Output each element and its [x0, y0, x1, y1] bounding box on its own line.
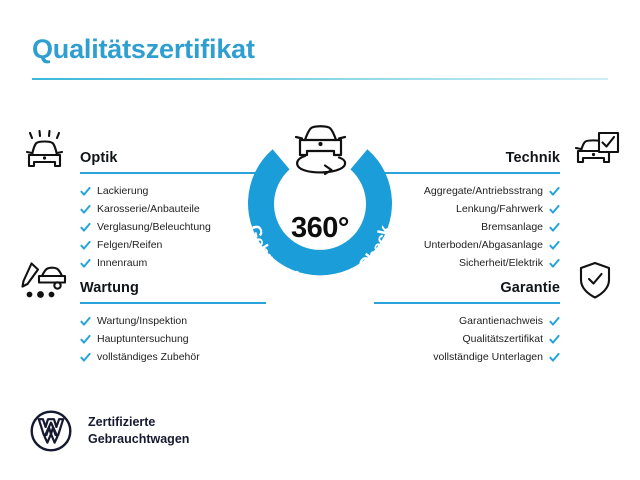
car-checkbox-icon — [568, 130, 622, 172]
check-icon — [80, 352, 91, 363]
check-icon — [549, 204, 560, 215]
list-item-label: vollständiges Zubehör — [97, 348, 200, 366]
header: Qualitätszertifikat — [32, 32, 608, 80]
block-title-technik: Technik — [506, 150, 560, 166]
badge-degrees-label: 360° — [226, 212, 414, 245]
check-icon — [80, 240, 91, 251]
block-title-optik: Optik — [80, 150, 118, 166]
volkswagen-logo — [30, 410, 72, 452]
sparkling-car-icon — [18, 130, 72, 172]
footer-line-1: Zertifizierte — [88, 414, 189, 431]
footer-brand-text: Zertifizierte Gebrauchtwagen — [88, 414, 189, 448]
list-item: Hauptuntersuchung — [18, 330, 266, 348]
list-item-label: Wartung/Inspektion — [97, 312, 187, 330]
list-item-label: Garantienachweis — [459, 312, 543, 330]
quality-certificate-page: Qualitätszertifikat — [0, 0, 640, 480]
footer-line-2: Gebrauchtwagen — [88, 431, 189, 448]
check-icon — [549, 222, 560, 233]
check-icon — [549, 334, 560, 345]
list-item-label: Felgen/Reifen — [97, 236, 162, 254]
check-list-wartung: Wartung/Inspektion Hauptuntersuchung vol… — [18, 304, 266, 366]
list-item-label: Lackierung — [97, 182, 148, 200]
check-icon — [80, 316, 91, 327]
check-icon — [80, 222, 91, 233]
list-item-label: Verglasung/Beleuchtung — [97, 218, 211, 236]
check-icon — [549, 240, 560, 251]
check-icon — [80, 204, 91, 215]
service-pen-car-icon — [18, 260, 72, 302]
check-icon — [80, 334, 91, 345]
list-item: vollständige Unterlagen — [374, 348, 622, 366]
list-item: vollständiges Zubehör — [18, 348, 266, 366]
list-item-label: Karosserie/Anbauteile — [97, 200, 200, 218]
list-item-label: Qualitätszertifikat — [462, 330, 543, 348]
list-item-label: Bremsanlage — [481, 218, 543, 236]
block-title-wartung: Wartung — [80, 280, 139, 296]
list-item-label: Unterboden/Abgasanlage — [424, 236, 543, 254]
list-item: Qualitätszertifikat — [374, 330, 622, 348]
check-icon — [549, 352, 560, 363]
list-item: Wartung/Inspektion — [18, 312, 266, 330]
footer-brand: Zertifizierte Gebrauchtwagen — [30, 410, 189, 452]
list-item-label: Lenkung/Fahrwerk — [456, 200, 543, 218]
list-item: Garantienachweis — [374, 312, 622, 330]
list-item-label: Hauptuntersuchung — [97, 330, 189, 348]
page-title: Qualitätszertifikat — [32, 32, 608, 66]
check-icon — [549, 316, 560, 327]
shield-check-icon — [568, 260, 622, 302]
list-item-label: vollständige Unterlagen — [433, 348, 543, 366]
list-item-label: Aggregate/Antriebsstrang — [424, 182, 543, 200]
check-icon — [549, 186, 560, 197]
car-360-icon — [281, 118, 359, 180]
badge-360-gebrauchtwagen-check: Gebrauchtwagen-Check 360° — [226, 116, 414, 304]
block-title-garantie: Garantie — [500, 280, 560, 296]
check-icon — [80, 186, 91, 197]
check-list-garantie: Garantienachweis Qualitätszertifikat vol… — [374, 304, 622, 366]
header-divider — [32, 78, 608, 80]
